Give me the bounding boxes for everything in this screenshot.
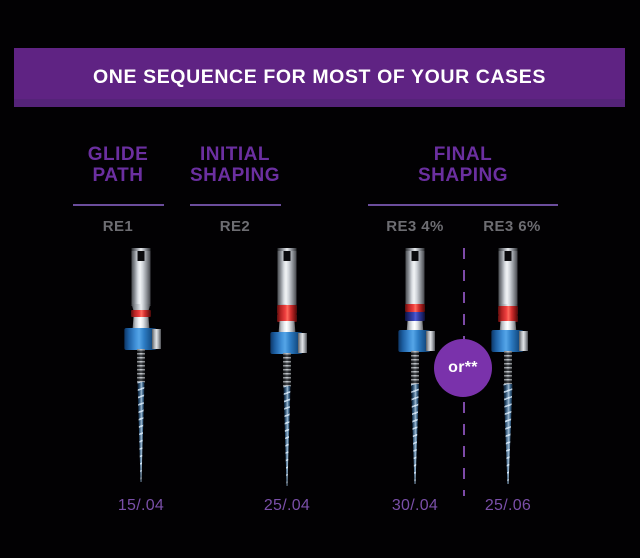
column-rule-initial-shaping	[190, 204, 281, 206]
file-ring-red	[498, 306, 518, 315]
file-ring-red	[131, 310, 151, 317]
file-ring-red	[405, 304, 425, 312]
instrument-size-re2: 25/.04	[227, 497, 347, 515]
file-ring-blue	[405, 312, 425, 321]
file-sleeve	[519, 331, 528, 351]
file-cutting-flutes	[411, 384, 419, 484]
instrument-file-re1	[111, 248, 171, 488]
instrument-code-re3-6: RE3 6%	[452, 218, 572, 235]
file-shank-cap	[132, 248, 151, 251]
file-ring-red-second	[498, 315, 518, 322]
file-sleeve	[298, 333, 307, 353]
infographic-root: ONE SEQUENCE FOR MOST OF YOUR CASES GLID…	[0, 0, 640, 558]
file-cutting-flutes	[138, 382, 145, 482]
file-shank-cap	[499, 248, 518, 251]
file-ribbed-shaft	[137, 349, 145, 383]
file-ring-red-second	[277, 314, 297, 322]
column-rule-final-shaping	[368, 204, 558, 206]
header-banner: ONE SEQUENCE FOR MOST OF YOUR CASES	[14, 48, 625, 107]
column-heading-initial-shaping: INITIAL SHAPING	[175, 144, 295, 187]
file-ribbed-shaft	[283, 353, 291, 387]
column-heading-final-shaping: FINAL SHAPING	[403, 144, 523, 187]
instrument-code-re1: RE1	[58, 218, 178, 235]
file-shank-cap	[406, 248, 425, 251]
instrument-code-re2: RE2	[175, 218, 295, 235]
file-ribbed-shaft	[504, 351, 512, 385]
file-cutting-flutes	[284, 386, 291, 486]
banner-bottom-strip	[14, 99, 625, 107]
file-shank-cap	[278, 248, 297, 251]
or-badge: or**	[434, 339, 492, 397]
file-cutting-flutes	[504, 384, 513, 484]
instrument-size-re3-6: 25/.06	[448, 497, 568, 515]
instrument-file-re2	[257, 248, 317, 488]
file-sleeve	[426, 331, 435, 351]
column-heading-glide-path: GLIDE PATH	[58, 144, 178, 187]
file-sleeve	[152, 329, 161, 349]
page-title: ONE SEQUENCE FOR MOST OF YOUR CASES	[93, 66, 546, 89]
file-ribbed-shaft	[411, 351, 419, 385]
column-rule-glide-path	[73, 204, 164, 206]
instrument-size-re1: 15/.04	[81, 497, 201, 515]
file-ring-red	[277, 305, 297, 314]
